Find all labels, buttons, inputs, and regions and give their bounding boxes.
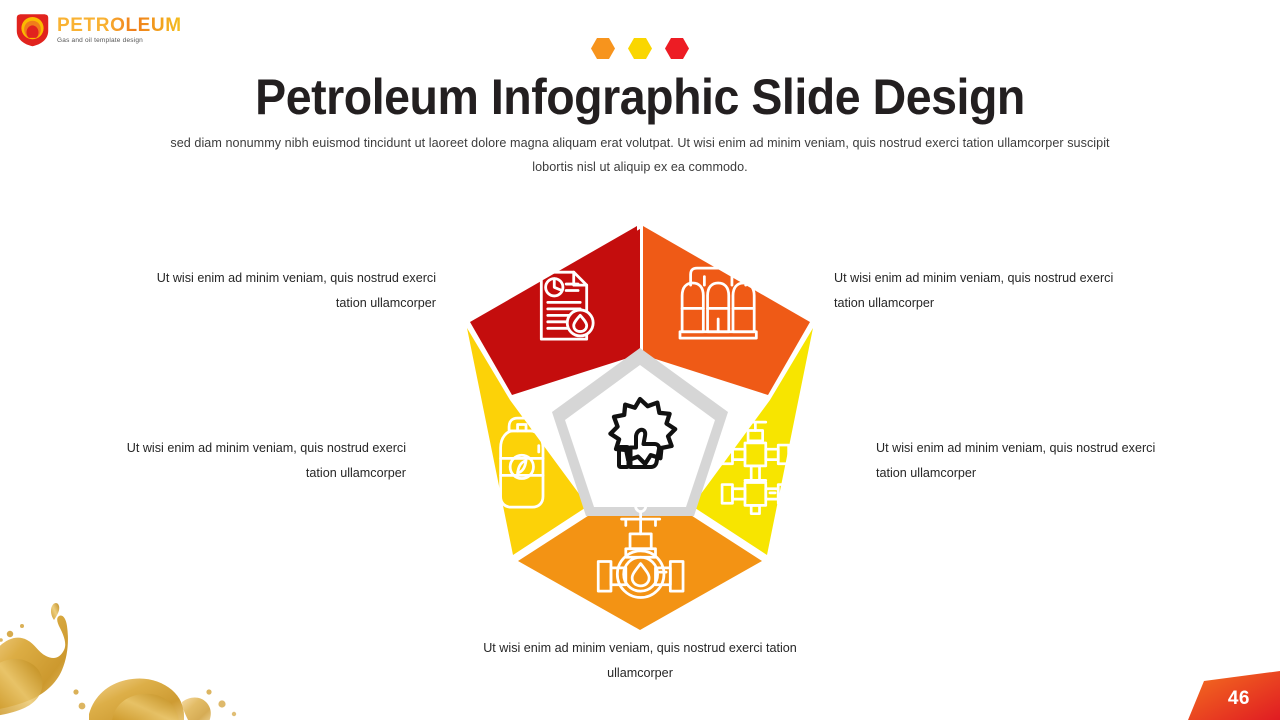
hexagon-decoration-row xyxy=(0,38,1280,59)
page-number: 46 xyxy=(1228,688,1250,710)
caption-top-right: Ut wisi enim ad minim veniam, quis nostr… xyxy=(834,266,1134,315)
caption-left: Ut wisi enim ad minim veniam, quis nostr… xyxy=(120,436,406,485)
page-subtitle: sed diam nonummy nibh euismod tincidunt … xyxy=(170,131,1110,179)
caption-right: Ut wisi enim ad minim veniam, quis nostr… xyxy=(876,436,1176,485)
pentagon-infographic xyxy=(434,222,846,634)
slide: PETROLEUM Gas and oil template design Pe… xyxy=(0,0,1280,720)
hexagon-yellow xyxy=(628,38,652,59)
hexagon-orange xyxy=(591,38,615,59)
oil-splash-decoration xyxy=(0,574,264,720)
page-number-badge: 46 xyxy=(1188,671,1280,720)
page-title: Petroleum Infographic Slide Design xyxy=(45,68,1235,126)
brand-name: PETROLEUM xyxy=(57,16,182,35)
caption-bottom: Ut wisi enim ad minim veniam, quis nostr… xyxy=(470,636,810,685)
hexagon-red xyxy=(665,38,689,59)
caption-top-left: Ut wisi enim ad minim veniam, quis nostr… xyxy=(150,266,436,315)
